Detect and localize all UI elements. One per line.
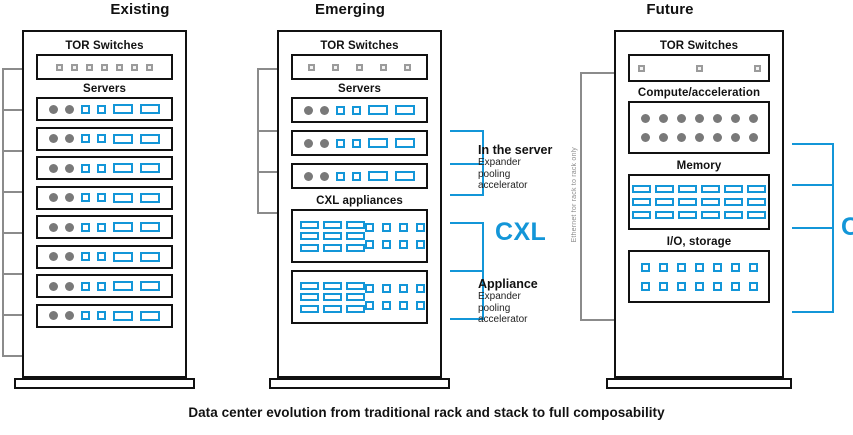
cxl-port-icon — [81, 193, 90, 202]
switch-port-icon — [56, 64, 63, 71]
compute-node-icon — [677, 114, 686, 123]
column-title-emerging: Emerging — [255, 0, 445, 22]
cpu-icon — [65, 164, 74, 173]
compute-unit — [628, 101, 770, 154]
cxl-appliance-unit — [291, 209, 428, 263]
memory-module-icon — [655, 211, 674, 219]
diagram-canvas: Existing TOR Switches — [0, 0, 853, 435]
callout-lines-appliance: Expander pooling accelerator — [478, 291, 527, 326]
cpu-icon — [304, 139, 313, 148]
cpu-icon — [320, 139, 329, 148]
column-title-existing: Existing — [0, 0, 280, 22]
switch-port-icon — [380, 64, 387, 71]
bus-spine — [2, 68, 4, 356]
cxl-port-icon — [352, 139, 361, 148]
cxl-module-icon — [395, 138, 415, 148]
cxl-module-icon — [113, 281, 133, 291]
cpu-icon — [49, 105, 58, 114]
compute-node-icon — [641, 133, 650, 142]
cxl-module-icon — [300, 305, 319, 313]
cpu-icon — [65, 193, 74, 202]
cxl-module-icon — [300, 282, 319, 290]
cpu-icon — [65, 252, 74, 261]
switch-port-icon — [116, 64, 123, 71]
appliance-port-grid — [365, 223, 425, 249]
bus-spine — [580, 72, 582, 320]
cpu-icon — [304, 172, 313, 181]
bracket-arm — [792, 227, 834, 229]
switch-port-icon — [71, 64, 78, 71]
cxl-module-icon — [140, 252, 160, 262]
rack-existing: TOR Switches Servers — [22, 30, 187, 378]
io-device-icon — [677, 263, 686, 272]
rack-emerging: TOR Switches Servers — [277, 30, 442, 378]
compute-node-icon — [731, 114, 740, 123]
cxl-module-icon — [323, 244, 342, 252]
cxl-port-icon — [382, 284, 391, 293]
memory-module-icon — [655, 185, 674, 193]
switch-port-icon — [332, 64, 339, 71]
callout-line: pooling — [478, 169, 527, 181]
cxl-port-icon — [97, 164, 106, 173]
section-label-tor: TOR Switches — [36, 40, 173, 52]
memory-module-icon — [678, 185, 697, 193]
cxl-module-icon — [368, 171, 388, 181]
server-unit — [36, 156, 173, 180]
tor-switch-unit — [36, 54, 173, 80]
cxl-module-icon — [395, 105, 415, 115]
switch-port-icon — [131, 64, 138, 71]
memory-module-icon — [678, 198, 697, 206]
callout-line: Expander — [478, 157, 527, 169]
callout-lines-in-the-server: Expander pooling accelerator — [478, 157, 527, 192]
cxl-module-icon — [368, 105, 388, 115]
cpu-icon — [65, 223, 74, 232]
bus-spine — [257, 68, 259, 213]
cpu-icon — [320, 106, 329, 115]
server-stack — [36, 97, 173, 328]
callout-heading-in-the-server: In the server — [478, 143, 552, 157]
memory-module-icon — [678, 211, 697, 219]
cxl-module-icon — [113, 252, 133, 262]
cxl-module-icon — [368, 138, 388, 148]
cxl-module-icon — [140, 281, 160, 291]
cxl-module-icon — [323, 293, 342, 301]
ethernet-bus-label: Ethernet for rack to rack only — [571, 147, 578, 242]
cxl-module-icon — [300, 244, 319, 252]
compute-grid — [641, 114, 758, 142]
switch-port-icon — [86, 64, 93, 71]
cpu-icon — [49, 134, 58, 143]
cxl-port-icon — [97, 311, 106, 320]
cpu-icon — [65, 311, 74, 320]
memory-unit — [628, 174, 770, 230]
cxl-module-icon — [300, 293, 319, 301]
cxl-module-icon — [323, 282, 342, 290]
column-existing: Existing TOR Switches — [0, 0, 280, 400]
io-device-icon — [659, 263, 668, 272]
cxl-port-icon — [81, 282, 90, 291]
cxl-module-icon — [140, 104, 160, 114]
cpu-icon — [49, 311, 58, 320]
cxl-module-icon — [140, 311, 160, 321]
cxl-port-icon — [399, 240, 408, 249]
section-label-servers: Servers — [36, 83, 173, 95]
io-device-icon — [731, 263, 740, 272]
cxl-port-icon — [352, 106, 361, 115]
memory-module-icon — [747, 211, 766, 219]
switch-port-icon — [146, 64, 153, 71]
cxl-port-icon — [97, 105, 106, 114]
appliance-port-grid — [365, 284, 425, 310]
cxl-module-icon — [300, 232, 319, 240]
cxl-port-icon — [399, 223, 408, 232]
cxl-port-icon — [382, 240, 391, 249]
section-label-compute: Compute/acceleration — [628, 87, 770, 99]
switch-port-icon — [404, 64, 411, 71]
cxl-port-icon — [382, 301, 391, 310]
cxl-port-icon — [365, 301, 374, 310]
cxl-port-icon — [97, 134, 106, 143]
cpu-icon — [49, 193, 58, 202]
compute-node-icon — [749, 133, 758, 142]
switch-port-icon — [696, 65, 703, 72]
cxl-label-future: CXL — [841, 213, 853, 242]
section-label-tor: TOR Switches — [628, 40, 770, 52]
memory-module-icon — [655, 198, 674, 206]
compute-node-icon — [695, 133, 704, 142]
cpu-icon — [304, 106, 313, 115]
io-device-icon — [695, 263, 704, 272]
compute-node-icon — [695, 114, 704, 123]
server-unit — [291, 97, 428, 123]
server-unit — [291, 163, 428, 189]
column-title-future: Future — [570, 0, 770, 22]
bracket-arm — [792, 311, 834, 313]
cpu-icon — [49, 164, 58, 173]
switch-port-icon — [754, 65, 761, 72]
cxl-module-icon — [113, 222, 133, 232]
cxl-module-icon — [346, 232, 365, 240]
cpu-icon — [320, 172, 329, 181]
switch-port-icon — [638, 65, 645, 72]
server-unit — [36, 274, 173, 298]
callout-line: Expander — [478, 291, 527, 303]
server-unit — [36, 304, 173, 328]
column-future: Future Ethernet for rack to rack only TO… — [570, 0, 853, 400]
cxl-module-icon — [140, 163, 160, 173]
bracket-arm — [450, 222, 484, 224]
section-label-io-storage: I/O, storage — [628, 236, 770, 248]
cxl-module-icon — [300, 221, 319, 229]
cxl-module-icon — [140, 134, 160, 144]
bracket-arm — [450, 270, 484, 272]
cxl-module-icon — [140, 193, 160, 203]
switch-port-icon — [101, 64, 108, 71]
cxl-port-icon — [365, 284, 374, 293]
section-label-cxl-appliances: CXL appliances — [291, 195, 428, 207]
tor-switch-unit — [628, 54, 770, 82]
compute-node-icon — [677, 133, 686, 142]
cxl-port-icon — [416, 284, 425, 293]
server-unit — [36, 127, 173, 151]
cxl-module-icon — [140, 222, 160, 232]
memory-module-icon — [701, 211, 720, 219]
cxl-port-icon — [97, 252, 106, 261]
cxl-port-icon — [416, 240, 425, 249]
cxl-port-icon — [416, 223, 425, 232]
section-label-memory: Memory — [628, 160, 770, 172]
cxl-module-icon — [113, 163, 133, 173]
cpu-icon — [49, 223, 58, 232]
cxl-module-icon — [323, 221, 342, 229]
cxl-port-icon — [416, 301, 425, 310]
callout-heading-appliance: Appliance — [478, 277, 538, 291]
memory-module-icon — [632, 198, 651, 206]
cxl-module-icon — [113, 193, 133, 203]
io-device-icon — [677, 282, 686, 291]
io-storage-grid — [641, 263, 758, 291]
server-unit — [291, 130, 428, 156]
io-device-icon — [731, 282, 740, 291]
server-unit — [36, 186, 173, 210]
cxl-port-icon — [365, 223, 374, 232]
io-device-icon — [659, 282, 668, 291]
memory-module-icon — [747, 185, 766, 193]
cxl-port-icon — [365, 240, 374, 249]
io-device-icon — [749, 263, 758, 272]
io-device-icon — [713, 263, 722, 272]
cxl-port-icon — [81, 134, 90, 143]
cxl-module-icon — [346, 305, 365, 313]
io-device-icon — [749, 282, 758, 291]
compute-node-icon — [713, 114, 722, 123]
cpu-icon — [49, 282, 58, 291]
compute-node-icon — [749, 114, 758, 123]
cxl-module-icon — [346, 282, 365, 290]
server-stack — [291, 97, 428, 189]
memory-module-icon — [701, 198, 720, 206]
cxl-module-icon — [113, 104, 133, 114]
memory-module-icon — [724, 185, 743, 193]
cxl-port-icon — [97, 193, 106, 202]
bracket-arm — [792, 143, 834, 145]
server-unit — [36, 215, 173, 239]
cxl-port-icon — [81, 311, 90, 320]
cxl-port-icon — [336, 172, 345, 181]
cxl-port-icon — [399, 284, 408, 293]
bracket-arm — [450, 130, 484, 132]
cxl-module-icon — [346, 244, 365, 252]
compute-node-icon — [659, 133, 668, 142]
cxl-module-icon — [323, 305, 342, 313]
switch-port-icon — [356, 64, 363, 71]
compute-node-icon — [731, 133, 740, 142]
cxl-port-icon — [336, 106, 345, 115]
cxl-port-icon — [399, 301, 408, 310]
cxl-port-icon — [97, 223, 106, 232]
cxl-module-icon — [395, 171, 415, 181]
memory-module-icon — [747, 198, 766, 206]
compute-node-icon — [641, 114, 650, 123]
cxl-module-icon — [113, 134, 133, 144]
cpu-icon — [65, 134, 74, 143]
tor-switch-unit — [291, 54, 428, 80]
cxl-label-emerging: CXL — [495, 218, 546, 247]
io-storage-unit — [628, 250, 770, 303]
io-device-icon — [695, 282, 704, 291]
cxl-module-icon — [346, 221, 365, 229]
rack-base-emerging — [269, 378, 450, 389]
cxl-module-icon — [323, 232, 342, 240]
cpu-icon — [65, 105, 74, 114]
cxl-port-icon — [382, 223, 391, 232]
memory-module-icon — [724, 198, 743, 206]
memory-module-icon — [724, 211, 743, 219]
figure-caption: Data center evolution from traditional r… — [0, 405, 853, 420]
column-emerging: Emerging TOR Switches Servers — [255, 0, 555, 400]
cxl-port-icon — [97, 282, 106, 291]
appliance-module-grid — [300, 221, 365, 252]
callout-line: accelerator — [478, 314, 527, 326]
cpu-icon — [65, 282, 74, 291]
cxl-module-icon — [346, 293, 365, 301]
memory-grid — [632, 185, 766, 219]
rack-base-future — [606, 378, 792, 389]
server-unit — [36, 97, 173, 121]
io-device-icon — [641, 282, 650, 291]
cxl-module-icon — [113, 311, 133, 321]
cxl-port-icon — [336, 139, 345, 148]
appliance-stack — [291, 209, 428, 324]
section-label-servers: Servers — [291, 83, 428, 95]
cxl-port-icon — [81, 223, 90, 232]
switch-port-icon — [308, 64, 315, 71]
bracket-arm — [792, 184, 834, 186]
memory-module-icon — [632, 211, 651, 219]
memory-module-icon — [632, 185, 651, 193]
compute-node-icon — [713, 133, 722, 142]
server-unit — [36, 245, 173, 269]
cxl-port-icon — [352, 172, 361, 181]
bracket-arm — [450, 194, 484, 196]
io-device-icon — [713, 282, 722, 291]
appliance-module-grid — [300, 282, 365, 313]
memory-module-icon — [701, 185, 720, 193]
section-label-tor: TOR Switches — [291, 40, 428, 52]
cxl-appliance-unit — [291, 270, 428, 324]
callout-line: accelerator — [478, 180, 527, 192]
cxl-port-icon — [81, 164, 90, 173]
callout-line: pooling — [478, 303, 527, 315]
cpu-icon — [49, 252, 58, 261]
compute-node-icon — [659, 114, 668, 123]
cxl-port-icon — [81, 105, 90, 114]
rack-base-existing — [14, 378, 195, 389]
cxl-port-icon — [81, 252, 90, 261]
rack-future: TOR Switches Compute/acceleration Memory — [614, 30, 784, 378]
io-device-icon — [641, 263, 650, 272]
